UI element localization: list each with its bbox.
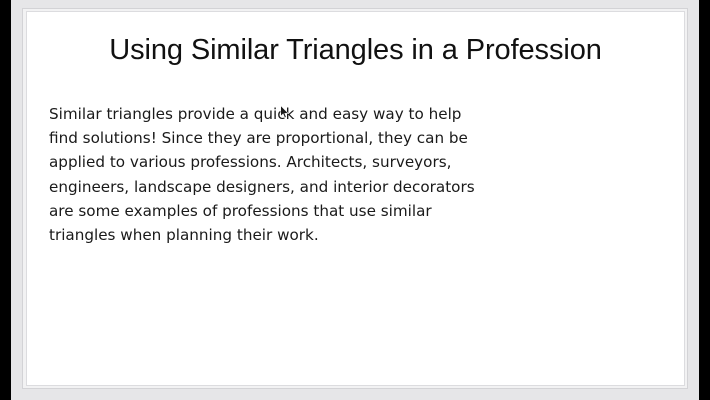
slide-canvas[interactable]: Using Similar Triangles in a Profession … xyxy=(26,11,685,386)
letterbox-left xyxy=(0,0,11,400)
slide-title: Using Similar Triangles in a Profession xyxy=(27,32,684,68)
letterbox-right xyxy=(699,0,710,400)
slide-viewer: Using Similar Triangles in a Profession … xyxy=(0,0,710,400)
slide-body-text: Similar triangles provide a quick and ea… xyxy=(49,102,479,247)
